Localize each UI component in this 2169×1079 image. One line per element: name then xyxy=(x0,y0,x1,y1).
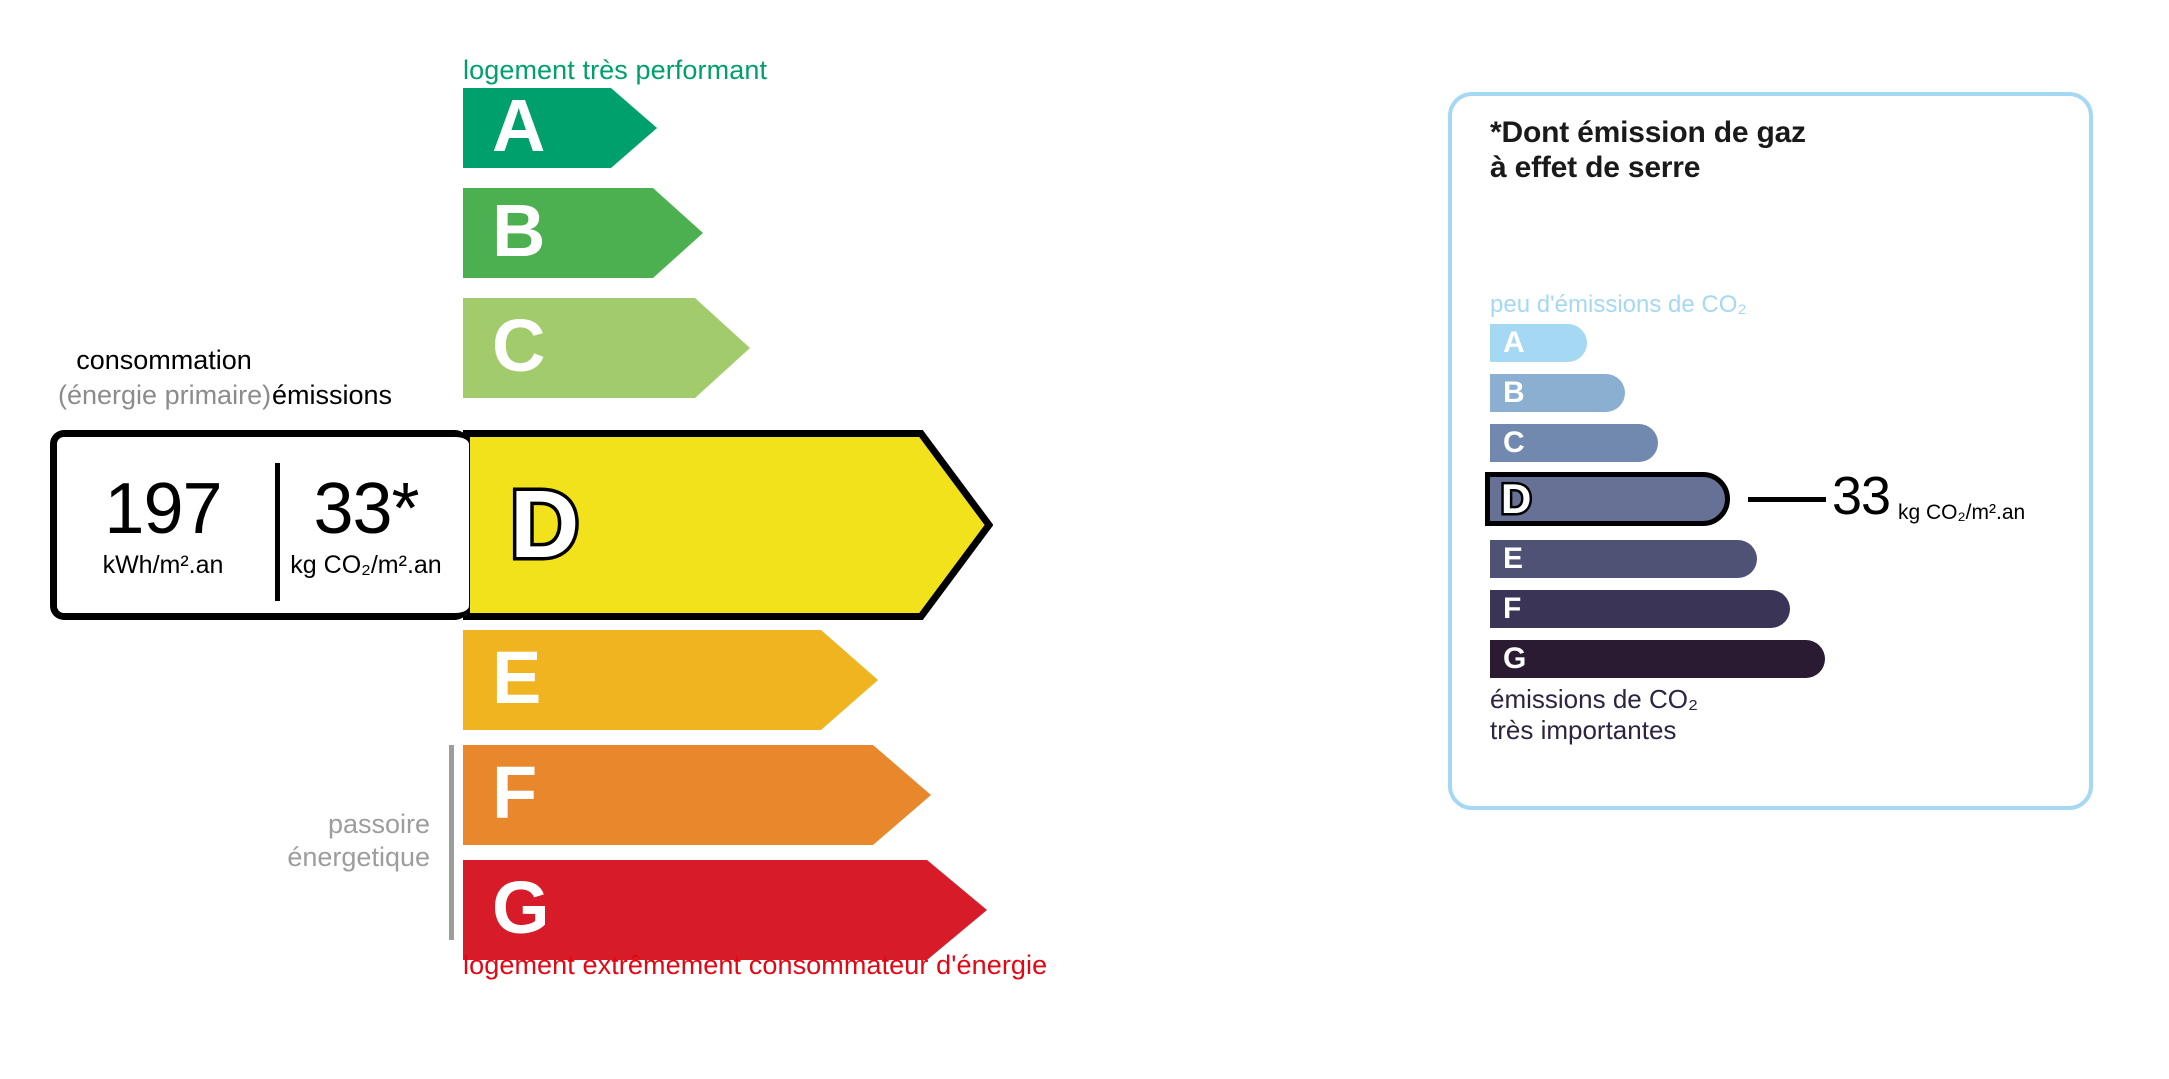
co2-bar-E: E xyxy=(1490,540,1757,578)
co2-leader-line xyxy=(1748,497,1826,502)
consumption-unit: kWh/m².an xyxy=(103,551,224,580)
emission-value: 33* xyxy=(313,476,418,542)
consumption-label: consommation xyxy=(58,345,270,376)
energy-band-selected-D: D xyxy=(463,430,993,620)
co2-value-unit: kg CO₂/m².an xyxy=(1898,501,2025,525)
consumption-value-cell: 197 kWh/m².an xyxy=(57,437,269,613)
selected-band-letter: D xyxy=(510,477,579,573)
co2-bar-G: G xyxy=(1490,640,1825,678)
consumption-value: 197 xyxy=(104,476,221,542)
co2-panel-title: *Dont émission de gaz à effet de serre xyxy=(1490,116,1806,186)
co2-bar-B: B xyxy=(1490,374,1625,412)
energy-bottom-caption: logement extrêmement consommateur d'éner… xyxy=(463,950,1047,981)
co2-value: 33 xyxy=(1832,469,1890,523)
energy-value-box: 197 kWh/m².an 33* kg CO₂/m².an xyxy=(50,430,469,620)
energy-band-G: G xyxy=(463,860,987,960)
energy-band-letter-B: B xyxy=(492,194,545,268)
energy-band-E: E xyxy=(463,630,878,730)
energy-band-letter-F: F xyxy=(492,756,537,830)
energy-band-F: F xyxy=(463,745,931,845)
co2-bar-C: C xyxy=(1490,424,1658,462)
primary-energy-label: (énergie primaire) xyxy=(58,380,270,411)
emissions-label: émissions xyxy=(272,380,492,411)
energy-band-letter-E: E xyxy=(492,641,541,715)
co2-top-caption: peu d'émissions de CO₂ xyxy=(1490,291,1747,319)
value-box-divider xyxy=(275,463,280,601)
emission-unit: kg CO₂/m².an xyxy=(290,551,441,580)
passoire-label: passoire énergetique xyxy=(200,808,430,874)
co2-emissions-panel: *Dont émission de gaz à effet de serre p… xyxy=(1448,92,2093,810)
co2-bar-D: D xyxy=(1485,472,1730,526)
emission-value-cell: 33* kg CO₂/m².an xyxy=(269,437,463,613)
energy-band-A: A xyxy=(463,88,657,168)
energy-top-caption: logement très performant xyxy=(463,55,767,86)
energy-band-letter-C: C xyxy=(492,309,545,383)
energy-band-C: C xyxy=(463,298,750,398)
energy-performance-diagram: logement très performant ABCEFG consomma… xyxy=(0,0,1300,1079)
passoire-bracket xyxy=(449,745,454,940)
energy-band-letter-A: A xyxy=(492,89,545,163)
energy-band-letter-G: G xyxy=(492,871,550,945)
energy-result-row: consommation (énergie primaire) émission… xyxy=(50,430,993,620)
co2-bottom-caption: émissions de CO₂ très importantes xyxy=(1490,684,1698,745)
co2-bar-A: A xyxy=(1490,324,1587,362)
energy-band-B: B xyxy=(463,188,703,278)
co2-bar-F: F xyxy=(1490,590,1790,628)
